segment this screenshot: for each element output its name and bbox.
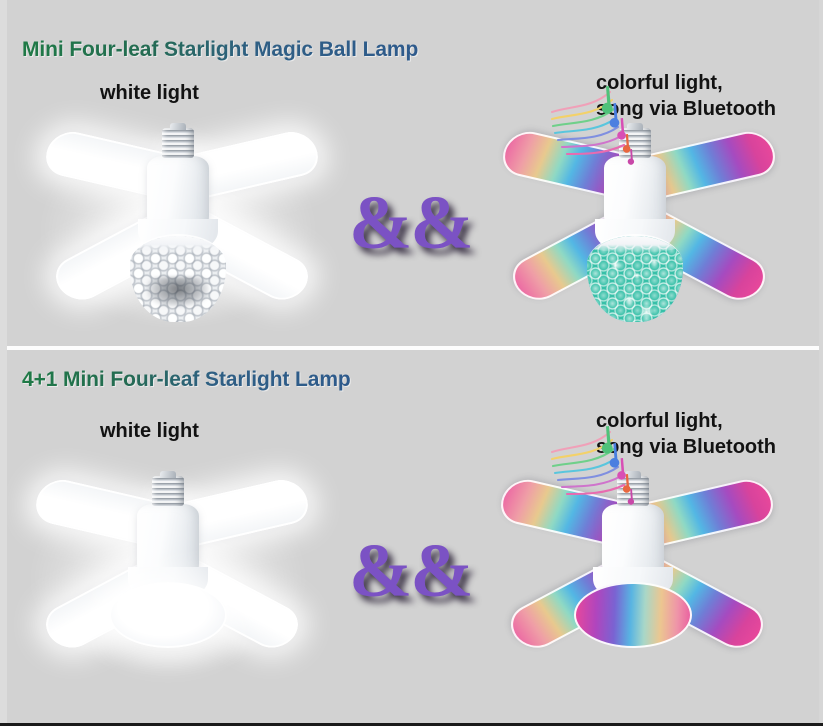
e27-screw-base (162, 128, 194, 158)
center-disc (574, 582, 692, 648)
product-feature-image: Mini Four-leaf Starlight Magic Ball Lamp… (0, 0, 823, 726)
center-disc (109, 582, 227, 648)
section-1-left-caption: white light (100, 80, 199, 106)
section-divider (0, 346, 823, 350)
section-1-connector: && (349, 185, 472, 261)
product-section-4plus1-lamp: 4+1 Mini Four-leaf Starlight Lamp 4+1 Mi… (0, 350, 823, 723)
music-notes-icon (548, 412, 638, 512)
section-2-heading: 4+1 Mini Four-leaf Starlight Lamp (22, 368, 351, 392)
left-edge-strip (0, 0, 7, 723)
lamp-4plus1-white (8, 470, 328, 680)
disco-ball (587, 234, 683, 322)
right-edge-strip (819, 0, 823, 723)
section-1-heading: Mini Four-leaf Starlight Magic Ball Lamp (22, 38, 418, 62)
section-2-connector: && (349, 533, 472, 609)
product-section-magic-ball-lamp: Mini Four-leaf Starlight Magic Ball Lamp… (0, 0, 823, 348)
lamp-magic-ball-white (18, 122, 338, 332)
music-notes-icon (548, 72, 638, 172)
e27-screw-base (152, 476, 184, 506)
crystal-ball (130, 234, 226, 322)
section-2-left-caption: white light (100, 418, 199, 444)
